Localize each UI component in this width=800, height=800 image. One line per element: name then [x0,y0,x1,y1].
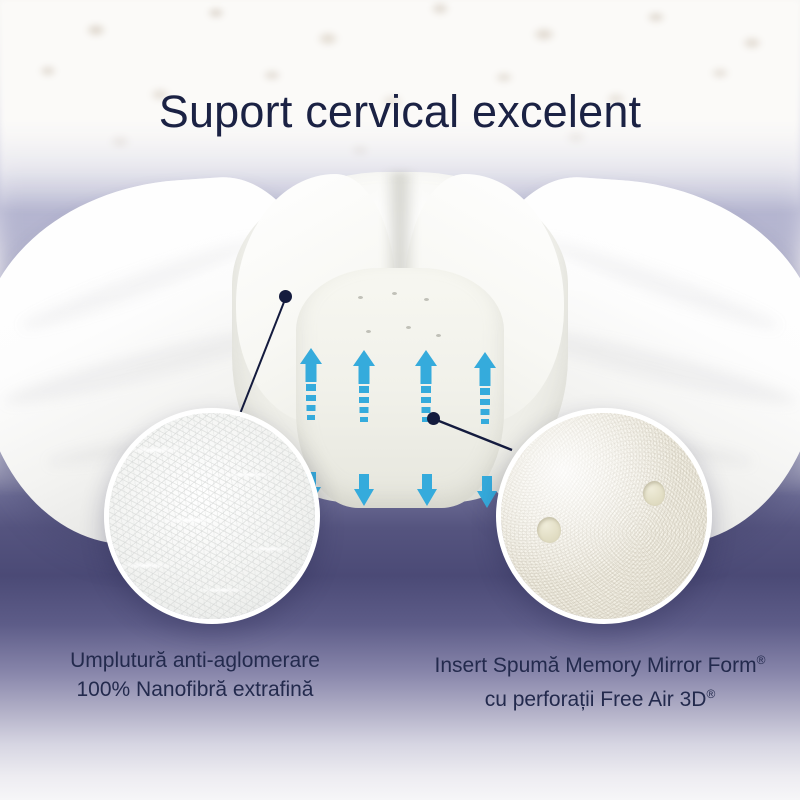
registered-mark-icon: ® [757,653,766,667]
callout-dot-fiber [279,290,292,303]
caption-foam-line2: cu perforații Free Air 3D® [400,680,800,714]
caption-foam-line1-text: Insert Spumă Memory Mirror Form [435,654,757,677]
perforation-hole [537,517,561,543]
perforated-memory-foam-texture [501,413,707,619]
product-feature-image: Suport cervical excelent [0,0,800,800]
caption-foam-line1: Insert Spumă Memory Mirror Form® [400,646,800,680]
callout-dot-foam [427,412,440,425]
nanofiber-fill-texture [109,413,315,619]
caption-fiber-line2: 100% Nanofibră extrafină [0,675,390,704]
caption-fiber: Umplutură anti-aglomerare 100% Nanofibră… [0,646,390,704]
callout-circle-foam [496,408,712,624]
callout-circle-fiber [104,408,320,624]
registered-mark-icon: ® [706,687,715,701]
page-title: Suport cervical excelent [0,86,800,138]
insert-contour-core [296,268,504,508]
caption-fiber-line1: Umplutură anti-aglomerare [0,646,390,675]
caption-foam-line2-text: cu perforații Free Air 3D [485,688,707,711]
perforation-hole [643,481,665,506]
caption-foam: Insert Spumă Memory Mirror Form® cu perf… [400,646,800,714]
